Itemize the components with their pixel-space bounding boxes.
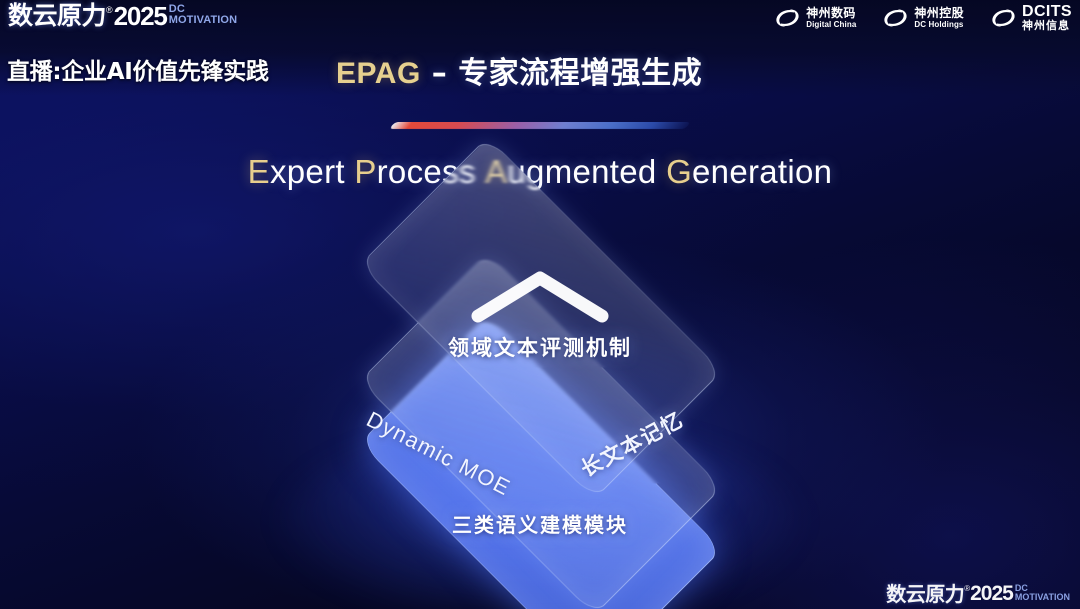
brand-registered-mark: ®: [106, 4, 113, 16]
partner-name-en: DCITS: [1022, 4, 1072, 20]
subtitle-word-4-cap: G: [666, 153, 692, 190]
subtitle-word-2-rest: rocess: [377, 153, 476, 190]
chevron-up-icon: [470, 268, 610, 324]
watermark-dc-motivation: DC MOTIVATION: [1015, 584, 1070, 602]
brand-name-cn: 数云原力: [8, 2, 106, 30]
brand-motivation-label: MOTIVATION: [169, 14, 237, 26]
partner-logo-digital-china: 神州数码 Digital China: [774, 7, 856, 30]
subtitle-word-3-cap: A: [485, 153, 507, 190]
subtitle-word-3-rest: ugmented: [507, 153, 656, 190]
swoosh-icon: [990, 7, 1017, 29]
partner-name-cn: 神州控股: [914, 7, 964, 20]
partner-label-group: 神州控股 DC Holdings: [914, 7, 964, 30]
subtitle-word-1-rest: xpert: [270, 153, 345, 190]
watermark-motivation-label: MOTIVATION: [1015, 592, 1070, 602]
slide-canvas: 数云原力 ® 2025 DC MOTIVATION 直播:企业AI价值先锋实践 …: [0, 0, 1080, 609]
stack-layer-top-label: 领域文本评测机制: [0, 332, 1080, 362]
partner-name-en: DC Holdings: [914, 20, 964, 30]
swoosh-icon: [882, 7, 909, 29]
title-separator: –: [421, 56, 458, 91]
footer-watermark-logo: 数云原力 ® 2025 DC MOTIVATION: [886, 583, 1070, 605]
live-subtitle: 直播:企业AI价值先锋实践: [7, 52, 269, 86]
watermark-dc-label: DC: [1015, 584, 1070, 592]
subtitle-word-2-cap: P: [354, 153, 376, 190]
swoosh-icon: [774, 7, 801, 29]
stack-layer-bottom-label: 三类语义建模模块: [0, 509, 1080, 538]
partner-name-cn: 神州信息: [1022, 20, 1072, 32]
brand-year: 2025: [114, 2, 167, 30]
partner-label-group: 神州数码 Digital China: [806, 7, 856, 30]
partner-label-group: DCITS 神州信息: [1022, 4, 1072, 32]
brand-dc-motivation: DC MOTIVATION: [169, 4, 237, 26]
watermark-year: 2025: [970, 583, 1013, 605]
subtitle-english: Expert Process Augmented Generation: [0, 152, 1080, 192]
partner-logo-dc-holdings: 神州控股 DC Holdings: [882, 7, 964, 30]
page-title: EPAG – 专家流程增强生成: [336, 55, 702, 93]
watermark-name-cn: 数云原力: [886, 583, 964, 605]
title-chinese: 专家流程增强生成: [458, 56, 702, 91]
partner-logo-group: 神州数码 Digital China 神州控股 DC Holdings DCIT…: [774, 4, 1072, 32]
partner-logo-dcits: DCITS 神州信息: [990, 4, 1072, 32]
partner-name-en: Digital China: [806, 20, 856, 30]
brand-logo: 数云原力 ® 2025 DC MOTIVATION: [8, 2, 237, 30]
brand-dc-label: DC: [169, 4, 237, 14]
subtitle-word-4-rest: eneration: [692, 153, 832, 190]
partner-name-cn: 神州数码: [806, 7, 856, 20]
subtitle-word-1-cap: E: [248, 153, 270, 190]
title-acronym: EPAG: [336, 57, 421, 90]
gradient-divider: [389, 122, 690, 129]
